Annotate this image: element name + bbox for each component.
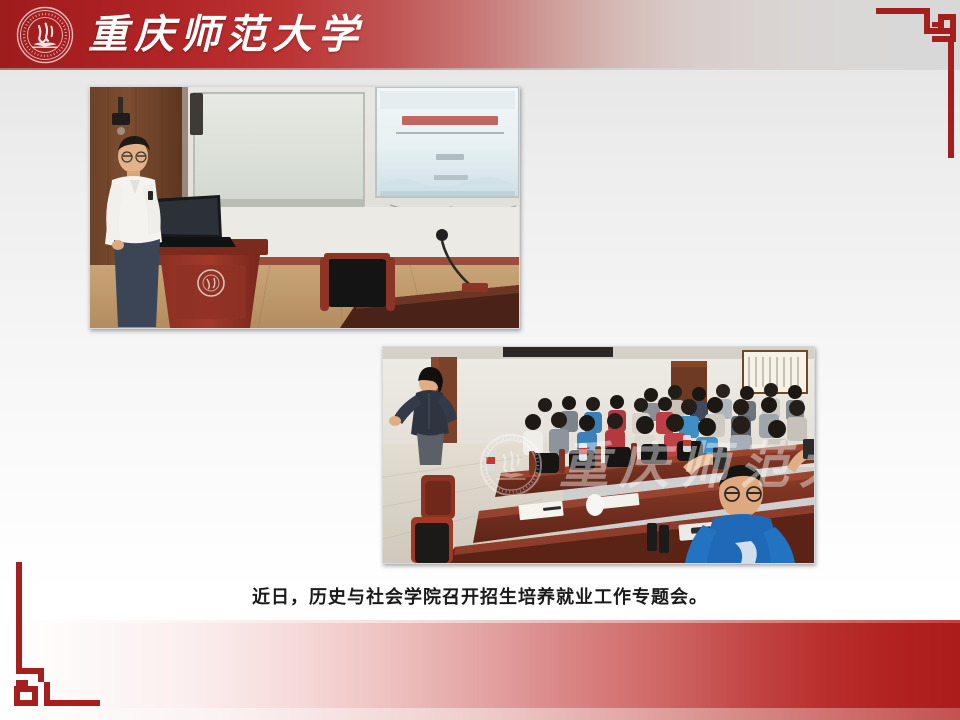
footer-gradient-bar [0, 623, 960, 720]
presentation-slide: 重庆师范大学 [0, 0, 960, 720]
photo-lecture-speaker [89, 86, 520, 329]
corner-decoration-bottom-left [10, 562, 100, 712]
header-underline [0, 68, 960, 70]
slide-caption: 近日，历史与社会学院召开招生培养就业工作专题会。 [0, 583, 960, 609]
university-name: 重庆师范大学 [88, 8, 364, 62]
photo-conference-audience: 重庆师范大学 [382, 346, 815, 564]
svg-text:重庆师范大学: 重庆师范大学 [559, 436, 814, 495]
university-seal-icon [16, 6, 74, 64]
corner-decoration-top-right [876, 8, 960, 158]
footer-bottom-highlight [0, 708, 960, 720]
